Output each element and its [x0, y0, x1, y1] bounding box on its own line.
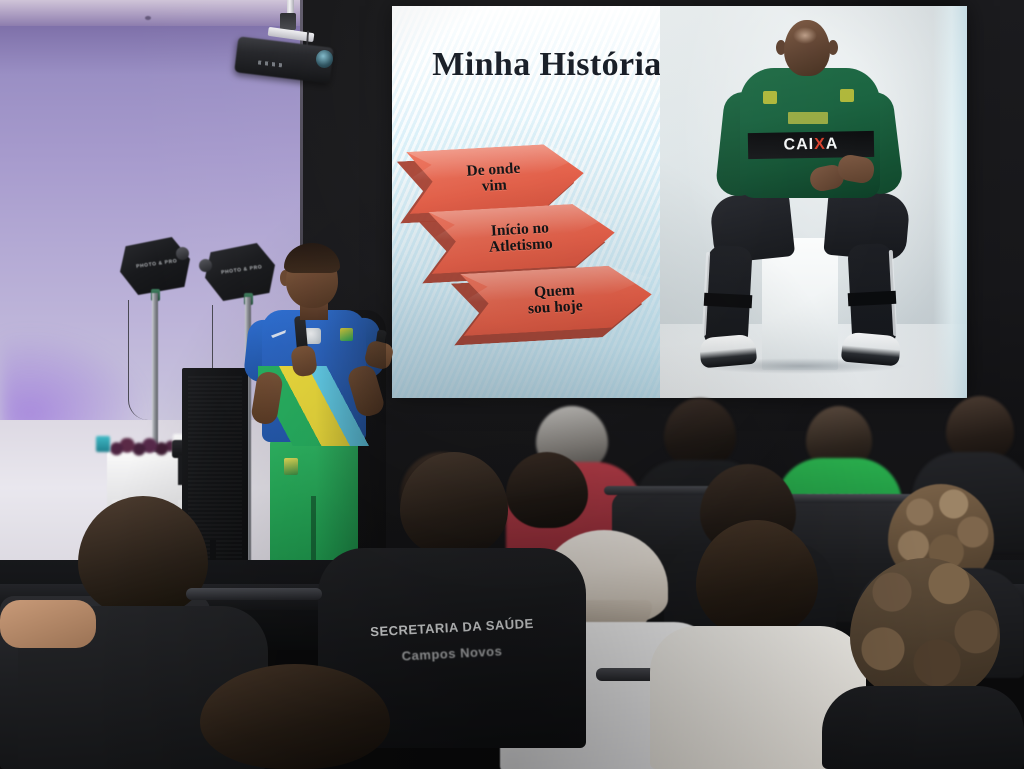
audience-head: [664, 398, 736, 468]
chevron-label-2: Início no Atletismo: [428, 202, 616, 274]
softbox-left: PHOTO & PRO: [120, 237, 190, 295]
athlete-sponsor-label: CAIXA: [783, 136, 838, 155]
chevron-label-3: Quem sou hoje: [460, 263, 653, 336]
light-cable-left: [128, 300, 149, 420]
light-brand-label-left: PHOTO & PRO: [136, 258, 178, 270]
chevron-label-2-line2: Atletismo: [489, 236, 553, 255]
projector-mount: [280, 13, 296, 30]
slide-athlete-photo: CAIXA: [660, 6, 967, 398]
light-knob-left: [176, 247, 189, 260]
chevron-label-1-line2: vim: [481, 178, 507, 195]
athlete-shoulder-logo-right: [840, 89, 854, 102]
teal-box: [96, 436, 110, 452]
fruit-tray: [110, 438, 176, 456]
athlete-pant-band-right: [848, 291, 897, 306]
audience-arm: [0, 600, 96, 648]
chevron-arrow-3: Quem sou hoje: [460, 263, 653, 336]
athlete-pant-band-left: [704, 293, 753, 308]
ceiling-fixture-dot: [145, 16, 151, 20]
audience-shoulders: [822, 686, 1024, 769]
chair-rail: [186, 588, 322, 600]
athlete-shoulder-logo-left: [763, 91, 777, 104]
studio-light-left: PHOTO & PRO: [120, 237, 190, 295]
presenter-hand-left: [290, 344, 318, 377]
light-knob-right: [199, 259, 212, 272]
chevron-label-3-line2: sou hoje: [528, 298, 583, 317]
screen-right-hotspot: [933, 6, 967, 398]
slide-arrow-group: De onde vim Início no Atletismo Quem: [400, 146, 680, 376]
athlete-shoe-left: [699, 334, 757, 369]
slide-title: Minha História: [412, 46, 682, 84]
presenter-flag-emblem: [340, 328, 353, 341]
chevron-label-1: De onde vim: [406, 142, 585, 214]
presentation-photo-scene: PHOTO & PRO PHOTO & PRO Minha História: [0, 0, 1024, 769]
athlete-head: [784, 20, 830, 76]
athlete-chest-text: [788, 112, 828, 124]
presenter-pocket-crest: [284, 458, 298, 475]
athlete-shoe-right: [841, 332, 901, 367]
audience-head: [506, 452, 588, 528]
chevron-arrow-2: Início no Atletismo: [428, 202, 616, 274]
presenter-hair: [284, 243, 340, 273]
projection-screen: Minha História De onde vim Início no Atl…: [392, 6, 967, 398]
presenter: [240, 246, 390, 576]
chevron-arrow-1: De onde vim: [406, 142, 585, 214]
